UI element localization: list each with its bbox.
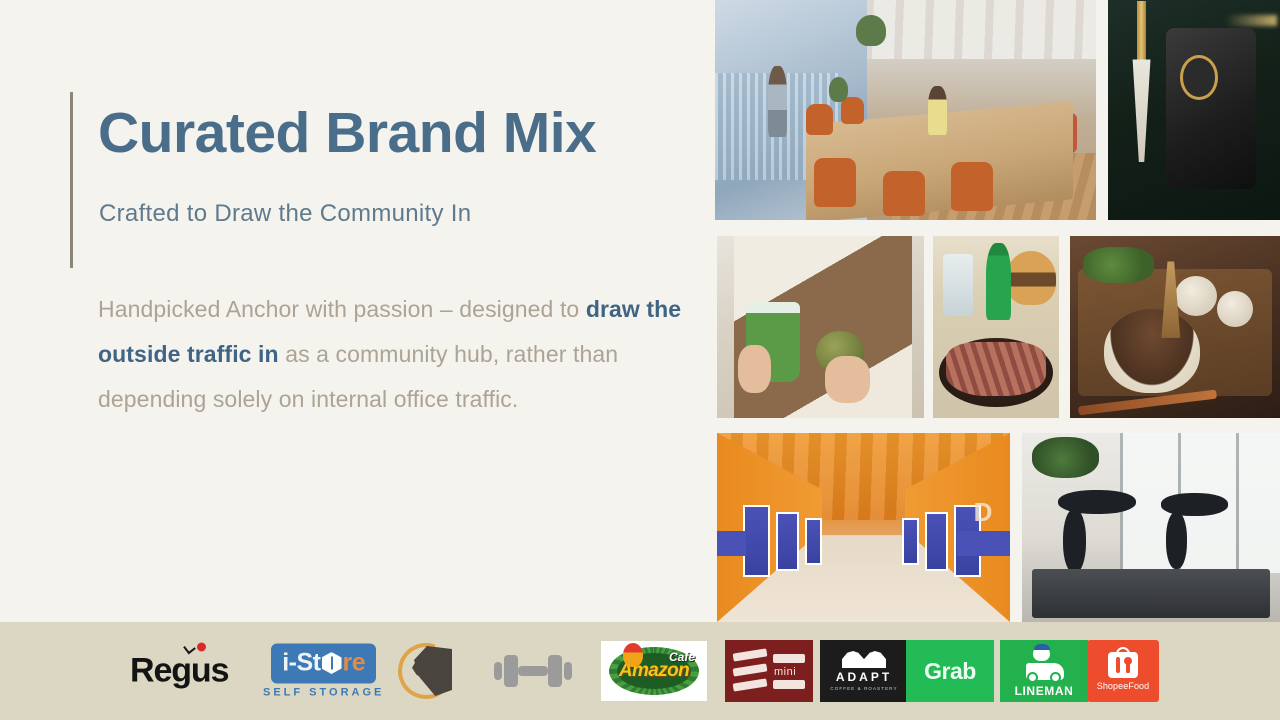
photo-steak-platter <box>933 236 1059 418</box>
i-store-badge: i-St re <box>271 644 376 684</box>
text-panel: Curated Brand Mix Crafted to Draw the Co… <box>0 0 715 622</box>
logo-i-store[interactable]: i-St re SELF STORAGE <box>263 644 384 699</box>
roaster-drum <box>1180 55 1218 100</box>
matcha-hand-left <box>738 345 771 392</box>
storage-unit-door <box>902 518 920 565</box>
amazon-cafe-label: Cafe <box>669 650 695 664</box>
image-mosaic: D <box>715 0 1280 622</box>
matcha-hand-right <box>825 356 871 403</box>
logo-climbing-gym[interactable] <box>398 643 454 699</box>
pilates-person-leg <box>1063 509 1086 573</box>
spoon-icon <box>1126 657 1130 673</box>
storage-label-band-right <box>957 531 1010 556</box>
logo-mini[interactable]: mini <box>725 640 813 702</box>
noodle-side-dish <box>1217 291 1253 327</box>
mini-stripe <box>733 678 768 691</box>
amazon-parrot-icon <box>623 643 643 667</box>
storage-unit-door <box>925 512 948 571</box>
fork-icon <box>1116 657 1120 673</box>
steak-green-bottle <box>986 243 1011 319</box>
roaster-machine-body <box>1166 28 1255 189</box>
shopeefood-label: ShopeeFood <box>1097 681 1150 691</box>
mini-label: mini <box>774 666 796 678</box>
logo-fitness-gym[interactable] <box>494 653 572 689</box>
lineman-helmet-icon <box>1033 646 1050 661</box>
storage-label-band-left <box>717 531 746 556</box>
dumbbell-icon <box>494 653 572 689</box>
steak-water-glass <box>943 254 973 316</box>
page-title: Curated Brand Mix <box>98 102 698 166</box>
lineman-rider-icon <box>1024 646 1064 680</box>
office-person-standing <box>768 66 787 137</box>
logo-cafe-amazon[interactable]: Cafe Amazon <box>601 641 707 701</box>
logo-adapt-coffee[interactable]: ADAPT COFFEE & ROASTERY <box>820 640 908 702</box>
noodle-side-dish <box>1175 276 1217 316</box>
mini-stripe <box>773 680 805 689</box>
office-potted-plant <box>829 77 848 102</box>
i-store-label-tail: re <box>343 649 366 678</box>
logo-grab[interactable]: Grab <box>906 640 994 702</box>
accent-bar <box>70 92 73 268</box>
pilates-reformer-machine <box>1032 569 1269 618</box>
mini-stripe <box>773 654 805 663</box>
office-chair <box>806 104 833 135</box>
photo-coworking-office <box>715 0 1096 220</box>
shopeefood-bag-body <box>1108 652 1138 678</box>
storage-unit-door <box>743 505 769 577</box>
lineman-wheel <box>1027 672 1038 683</box>
i-store-hex-icon <box>322 652 342 674</box>
mini-stripe <box>733 648 768 661</box>
office-chair <box>841 97 864 124</box>
grab-label: Grab <box>906 640 994 702</box>
pilates-greenery <box>1032 437 1099 479</box>
logo-regus-label: Regus <box>130 652 228 690</box>
mini-stripe <box>733 663 768 676</box>
dumbbell-bar <box>518 666 548 676</box>
storage-zone-letter: D <box>974 497 993 528</box>
adapt-mountain-icon <box>842 651 886 668</box>
slide-curated-brand-mix: Curated Brand Mix Crafted to Draw the Co… <box>0 0 1280 720</box>
logo-lineman[interactable]: LINEMAN <box>1000 640 1088 702</box>
roastery-accent-light <box>1225 15 1277 26</box>
roaster-brass-pipe <box>1137 1 1146 68</box>
photo-noodle-bowl <box>1070 236 1280 418</box>
adapt-tagline: COFFEE & ROASTERY <box>830 686 897 691</box>
dumbbell-plate <box>548 655 562 687</box>
regus-dot-icon <box>197 643 206 652</box>
i-store-label: i-St <box>282 649 320 678</box>
adapt-label: ADAPT <box>836 670 892 684</box>
noodle-main-bowl <box>1104 309 1201 393</box>
logo-shopeefood[interactable]: ShopeeFood <box>1087 640 1159 702</box>
storage-unit-door <box>776 512 799 571</box>
lineman-label: LINEMAN <box>1015 684 1074 698</box>
body-part-1: Handpicked Anchor with passion – designe… <box>98 296 586 322</box>
dumbbell-plate <box>504 655 518 687</box>
office-hanging-plant <box>856 15 886 46</box>
i-store-subtitle: SELF STORAGE <box>263 687 384 699</box>
dumbbell-plate <box>494 662 502 680</box>
steak-burger <box>1006 251 1056 306</box>
steak-sliced-meat <box>946 342 1047 397</box>
noodle-herbs <box>1083 247 1154 283</box>
photo-matcha-drink <box>717 236 924 418</box>
photo-coffee-roastery <box>1108 0 1280 220</box>
photo-self-storage-corridor: D <box>717 433 1010 622</box>
office-chair <box>951 162 993 211</box>
office-chair <box>814 158 856 207</box>
shopeefood-bag-icon <box>1108 652 1138 678</box>
office-person-seated <box>928 86 947 135</box>
office-chair <box>883 171 925 216</box>
storage-unit-door <box>805 518 823 565</box>
photo-pilates-studio <box>1022 433 1280 622</box>
page-subtitle: Crafted to Draw the Community In <box>99 198 699 229</box>
body-paragraph: Handpicked Anchor with passion – designe… <box>98 287 710 422</box>
pilates-person-leg <box>1166 512 1187 569</box>
partner-logo-bar: Regus i-St re SELF STORAGE <box>0 622 1280 720</box>
logo-regus[interactable]: Regus <box>130 652 228 691</box>
dumbbell-plate <box>564 662 572 680</box>
lineman-wheel <box>1050 672 1061 683</box>
